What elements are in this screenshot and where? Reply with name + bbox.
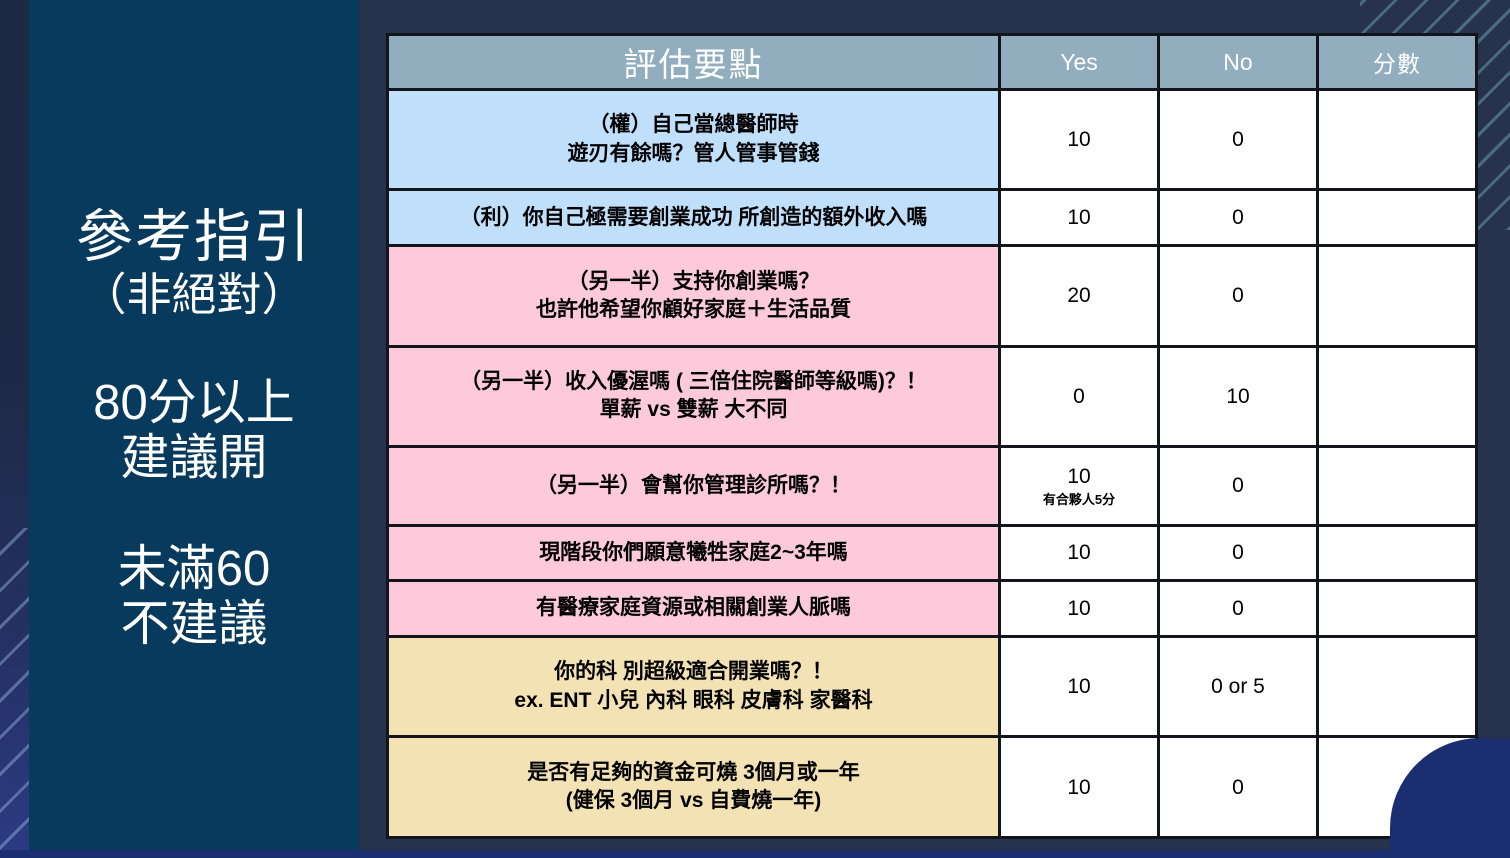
row-item-line: ex. ENT 小兒 內科 眼科 皮膚科 家醫科: [395, 687, 992, 715]
row-no-score-cell: 0: [1159, 447, 1318, 526]
row-yes-score-cell: 0: [1000, 346, 1159, 446]
row-total-score-cell[interactable]: [1318, 90, 1477, 190]
row-total-score-cell[interactable]: [1318, 581, 1477, 637]
row-total-score-cell[interactable]: [1318, 346, 1477, 446]
row-item-cell: （另一半）會幫你管理診所嗎？！: [388, 447, 1000, 526]
table-row: （另一半）支持你創業嗎？也許他希望你顧好家庭＋生活品質200: [388, 246, 1477, 346]
row-yes-value: 20: [1067, 284, 1090, 307]
row-item-line: （權）自己當總醫師時: [395, 111, 992, 139]
row-no-score-cell: 0: [1159, 525, 1318, 581]
row-yes-score-cell: 10: [1000, 637, 1159, 737]
row-item-line: （另一半）收入優渥嗎 ( 三倍住院醫師等級嗎)？！: [395, 368, 992, 396]
row-yes-value: 10: [1067, 675, 1090, 698]
table-row: （另一半）會幫你管理診所嗎？！10有合夥人5分0: [388, 447, 1477, 526]
row-item-line: 是否有足夠的資金可燒 3個月或一年: [395, 759, 992, 787]
row-total-score-cell[interactable]: [1318, 447, 1477, 526]
caption-line-5: 未滿60: [118, 542, 271, 597]
row-item-cell: （另一半）支持你創業嗎？也許他希望你顧好家庭＋生活品質: [388, 246, 1000, 346]
row-item-cell: （另一半）收入優渥嗎 ( 三倍住院醫師等級嗎)？！單薪 vs 雙薪 大不同: [388, 346, 1000, 446]
row-item-line: （利）你自己極需要創業成功 所創造的額外收入嗎: [395, 204, 992, 232]
caption-line-1: 參考指引: [76, 206, 312, 270]
row-yes-value: 10: [1067, 128, 1090, 151]
row-yes-score-cell: 10: [1000, 90, 1159, 190]
slide-canvas: 參考指引 （非絕對） 80分以上 建議開 未滿60 不建議 評估要點 Yes N…: [0, 0, 1510, 858]
row-yes-value: 10: [1067, 541, 1090, 564]
row-yes-score-cell: 10: [1000, 190, 1159, 246]
row-no-score-cell: 0: [1159, 737, 1318, 838]
table-row: （權）自己當總醫師時遊刃有餘嗎？管人管事管錢100: [388, 90, 1477, 190]
row-item-line: 也許他希望你顧好家庭＋生活品質: [395, 296, 992, 324]
left-edge-gradient-strip: [0, 0, 29, 858]
row-item-line: 遊刃有餘嗎？管人管事管錢: [395, 140, 992, 168]
row-no-score-cell: 0: [1159, 190, 1318, 246]
row-no-score-cell: 0: [1159, 246, 1318, 346]
caption-pass-threshold-group: 80分以上 建議開: [93, 376, 295, 486]
row-total-score-cell[interactable]: [1318, 525, 1477, 581]
table-body: （權）自己當總醫師時遊刃有餘嗎？管人管事管錢100（利）你自己極需要創業成功 所…: [388, 90, 1477, 838]
row-yes-score-cell: 10: [1000, 525, 1159, 581]
table-row: （另一半）收入優渥嗎 ( 三倍住院醫師等級嗎)？！單薪 vs 雙薪 大不同010: [388, 346, 1477, 446]
caption-fail-threshold-group: 未滿60 不建議: [118, 542, 271, 652]
column-header-yes: Yes: [1000, 35, 1159, 90]
caption-title-group: 參考指引 （非絕對）: [76, 206, 312, 320]
row-item-cell: 是否有足夠的資金可燒 3個月或一年(健保 3個月 vs 自費燒一年): [388, 737, 1000, 838]
column-header-item: 評估要點: [388, 35, 1000, 90]
row-item-line: 單薪 vs 雙薪 大不同: [395, 396, 992, 424]
table-row: 是否有足夠的資金可燒 3個月或一年(健保 3個月 vs 自費燒一年)100: [388, 737, 1477, 838]
row-no-score-cell: 10: [1159, 346, 1318, 446]
table-row: 現階段你們願意犧牲家庭2~3年嗎100: [388, 525, 1477, 581]
row-total-score-cell[interactable]: [1318, 637, 1477, 737]
row-item-cell: （利）你自己極需要創業成功 所創造的額外收入嗎: [388, 190, 1000, 246]
table-row: 有醫療家庭資源或相關創業人脈嗎100: [388, 581, 1477, 637]
column-header-score: 分數: [1318, 35, 1477, 90]
row-item-line: 你的科 別超級適合開業嗎？！: [395, 658, 992, 686]
row-item-cell: 現階段你們願意犧牲家庭2~3年嗎: [388, 525, 1000, 581]
row-yes-score-cell: 10: [1000, 581, 1159, 637]
caption-line-2: （非絕對）: [76, 270, 312, 320]
row-yes-value: 10: [1067, 206, 1090, 229]
row-yes-value: 10: [1067, 776, 1090, 799]
row-total-score-cell[interactable]: [1318, 190, 1477, 246]
row-item-cell: （權）自己當總醫師時遊刃有餘嗎？管人管事管錢: [388, 90, 1000, 190]
row-item-line: (健保 3個月 vs 自費燒一年): [395, 787, 992, 815]
guideline-caption-panel: 參考指引 （非絕對） 80分以上 建議開 未滿60 不建議: [29, 0, 359, 858]
row-yes-value: 10: [1067, 597, 1090, 620]
row-no-score-cell: 0 or 5: [1159, 637, 1318, 737]
row-yes-value: 0: [1073, 385, 1085, 408]
table-header: 評估要點 Yes No 分數: [388, 35, 1477, 90]
row-item-cell: 你的科 別超級適合開業嗎？！ex. ENT 小兒 內科 眼科 皮膚科 家醫科: [388, 637, 1000, 737]
caption-line-4: 建議開: [93, 431, 295, 486]
row-no-score-cell: 0: [1159, 90, 1318, 190]
row-item-line: 現階段你們願意犧牲家庭2~3年嗎: [395, 539, 992, 567]
bottom-accent-bar: [0, 850, 1510, 858]
table-header-row: 評估要點 Yes No 分數: [388, 35, 1477, 90]
caption-line-3: 80分以上: [93, 376, 295, 431]
evaluation-table: 評估要點 Yes No 分數 （權）自己當總醫師時遊刃有餘嗎？管人管事管錢100…: [386, 33, 1478, 839]
row-yes-score-cell: 10有合夥人5分: [1000, 447, 1159, 526]
column-header-no: No: [1159, 35, 1318, 90]
row-item-line: 有醫療家庭資源或相關創業人脈嗎: [395, 594, 992, 622]
row-yes-note: 有合夥人5分: [1007, 492, 1151, 508]
row-no-score-cell: 0: [1159, 581, 1318, 637]
caption-line-6: 不建議: [118, 597, 271, 652]
evaluation-table-wrapper: 評估要點 Yes No 分數 （權）自己當總醫師時遊刃有餘嗎？管人管事管錢100…: [386, 33, 1475, 839]
row-yes-score-cell: 20: [1000, 246, 1159, 346]
row-yes-score-cell: 10: [1000, 737, 1159, 838]
table-row: （利）你自己極需要創業成功 所創造的額外收入嗎100: [388, 190, 1477, 246]
row-yes-value: 10: [1067, 465, 1090, 488]
row-total-score-cell[interactable]: [1318, 246, 1477, 346]
row-item-line: （另一半）支持你創業嗎？: [395, 268, 992, 296]
table-row: 你的科 別超級適合開業嗎？！ex. ENT 小兒 內科 眼科 皮膚科 家醫科10…: [388, 637, 1477, 737]
row-item-cell: 有醫療家庭資源或相關創業人脈嗎: [388, 581, 1000, 637]
row-item-line: （另一半）會幫你管理診所嗎？！: [395, 472, 992, 500]
